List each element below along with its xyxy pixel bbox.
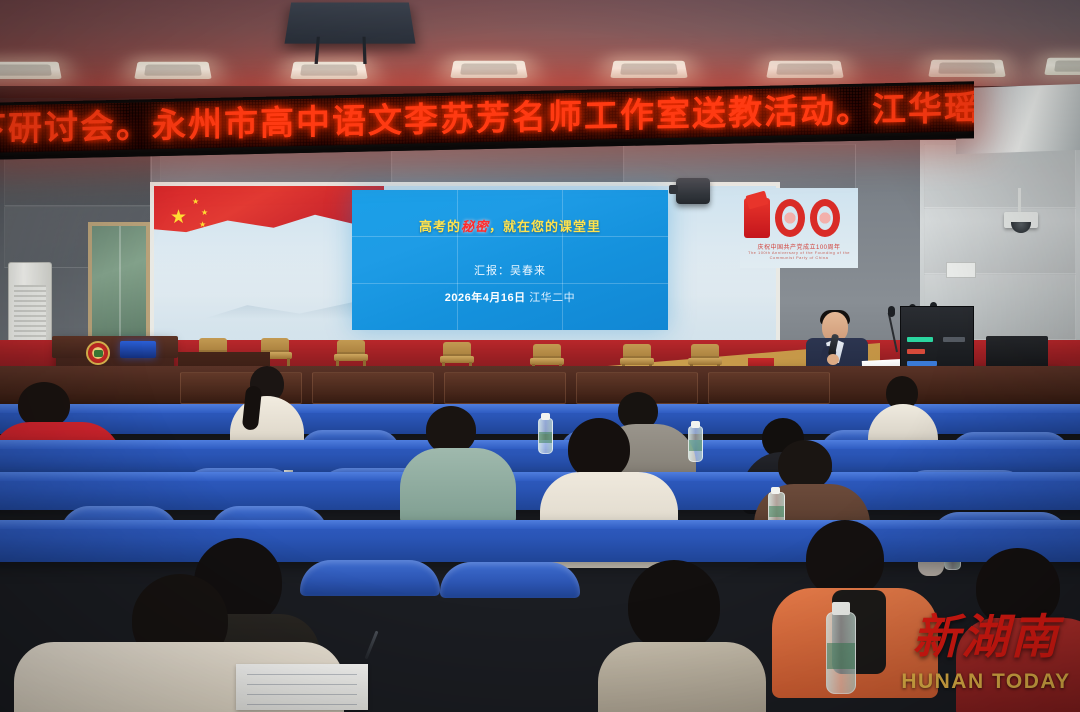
ceiling-light	[766, 61, 844, 78]
camera-mount-arm	[1018, 188, 1021, 214]
green-chalkboard	[88, 222, 150, 342]
audience-person	[400, 406, 510, 516]
projection-screen: 高考的秘密，就在您的课堂里 汇报：吴春来 2026年4月16日 江华二中	[352, 190, 668, 330]
gooseneck-mic-head-icon	[888, 306, 895, 317]
ceiling-light	[450, 61, 528, 78]
cpc-centennial-emblem-icon: 庆祝中国共产党成立100周年 The 100th Anniversary of …	[740, 188, 858, 268]
led-banner-right-wall	[956, 84, 1080, 155]
slide-title-highlight: 秘密	[461, 219, 489, 234]
slide-title-part2: ，就在您的课堂里	[489, 219, 601, 234]
dome-camera-icon	[1004, 212, 1038, 228]
slide-date: 2026年4月16日	[445, 292, 526, 304]
audience-chair	[440, 562, 580, 598]
school-emblem-icon	[86, 341, 110, 365]
water-bottle	[688, 426, 703, 462]
ceiling-light	[1044, 58, 1080, 75]
ceiling-light	[0, 62, 62, 79]
wall-control-plate	[946, 262, 976, 278]
slide-date-line: 2026年4月16日 江华二中	[352, 289, 668, 305]
china-flag-icon: ★★ ★★ ★	[154, 186, 384, 258]
water-bottle	[826, 612, 856, 694]
audience-person	[598, 560, 758, 712]
wall-mounted-camera-icon	[676, 178, 710, 204]
photo-scene: ★★ ★★ ★ 庆祝中国共产党成立100周年 The 100th Anniver…	[0, 0, 1080, 712]
slide-location: 江华二中	[529, 292, 575, 304]
watermark-english-text: HUNAN TODAY	[896, 670, 1076, 694]
slide-presenter-line: 汇报：吴春来	[352, 262, 668, 278]
ceiling-light	[290, 62, 368, 79]
ceiling-light	[134, 62, 212, 79]
watermark-logo: 新湖南 HUNAN TODAY	[896, 612, 1076, 708]
audience-person	[866, 376, 940, 446]
watermark-chinese-text: 新湖南	[902, 614, 1070, 661]
open-notebook	[236, 664, 368, 710]
slide-title-part1: 高考的	[419, 219, 461, 234]
audience-person	[226, 366, 308, 444]
cpc-emblem-caption-en: The 100th Anniversary of the Founding of…	[740, 250, 858, 261]
slide-title: 高考的秘密，就在您的课堂里	[352, 216, 668, 235]
ceiling-light	[928, 60, 1006, 77]
ceiling-light	[610, 61, 688, 78]
lectern-touch-screen	[120, 341, 156, 358]
ceiling-projector-mount	[285, 3, 416, 44]
pen-icon	[364, 631, 378, 660]
